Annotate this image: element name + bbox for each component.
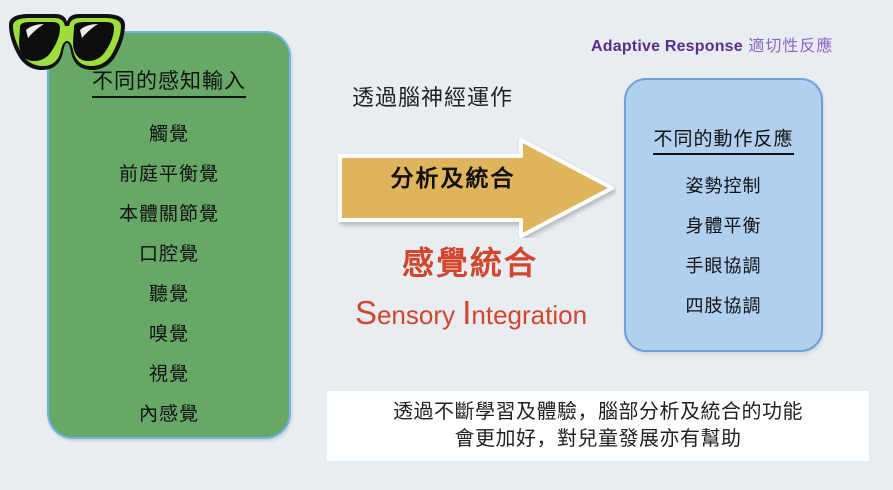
list-item: 前庭平衡覺 — [49, 165, 289, 184]
si-en-rest-ntegration: ntegration — [471, 300, 587, 330]
conclusion-box: 透過不斷學習及體驗，腦部分析及統合的功能 會更加好，對兒童發展亦有幫助 — [327, 391, 869, 461]
adaptive-response-header-cn: 適切性反應 — [748, 38, 833, 55]
motor-response-panel-title-text: 不同的動作反應 — [653, 129, 793, 155]
list-item: 視覺 — [49, 365, 289, 384]
conclusion-line-2: 會更加好，對兒童發展亦有幫助 — [327, 426, 869, 453]
sensory-integration-title-en: Sensory Integration — [326, 296, 616, 329]
list-item: 嗅覺 — [49, 325, 289, 344]
analysis-arrow-label: 分析及統合 — [358, 167, 548, 190]
conclusion-line-1: 透過不斷學習及體驗，腦部分析及統合的功能 — [327, 399, 869, 426]
list-item: 手眼協調 — [626, 257, 821, 275]
sunglasses-icon — [3, 13, 131, 75]
sensory-input-panel: 不同的感知輸入 觸覺 前庭平衡覺 本體關節覺 口腔覺 聽覺 嗅覺 視覺 內感覺 — [47, 31, 291, 439]
list-item: 觸覺 — [49, 125, 289, 144]
list-item: 內感覺 — [49, 405, 289, 424]
motor-response-panel-title: 不同的動作反應 — [626, 130, 821, 149]
list-item: 本體關節覺 — [49, 205, 289, 224]
brain-process-label: 透過腦神經運作 — [352, 86, 602, 110]
motor-response-panel: 不同的動作反應 姿勢控制 身體平衡 手眼協調 四肢協調 — [624, 78, 823, 352]
si-en-cap-s: S — [355, 294, 377, 331]
slide-canvas: 不同的感知輸入 觸覺 前庭平衡覺 本體關節覺 口腔覺 聽覺 嗅覺 視覺 內感覺 — [0, 0, 893, 490]
list-item: 聽覺 — [49, 285, 289, 304]
motor-response-list: 姿勢控制 身體平衡 手眼協調 四肢協調 — [626, 177, 821, 337]
list-item: 姿勢控制 — [626, 177, 821, 195]
adaptive-response-header-en: Adaptive Response — [591, 38, 743, 55]
si-en-rest-ensory: ensory — [377, 300, 455, 330]
list-item: 四肢協調 — [626, 297, 821, 315]
sensory-input-list: 觸覺 前庭平衡覺 本體關節覺 口腔覺 聽覺 嗅覺 視覺 內感覺 — [49, 125, 289, 445]
adaptive-response-header: Adaptive Response 適切性反應 — [591, 39, 871, 55]
list-item: 身體平衡 — [626, 217, 821, 235]
sensory-integration-title-cn: 感覺統合 — [330, 247, 610, 279]
list-item: 口腔覺 — [49, 245, 289, 264]
